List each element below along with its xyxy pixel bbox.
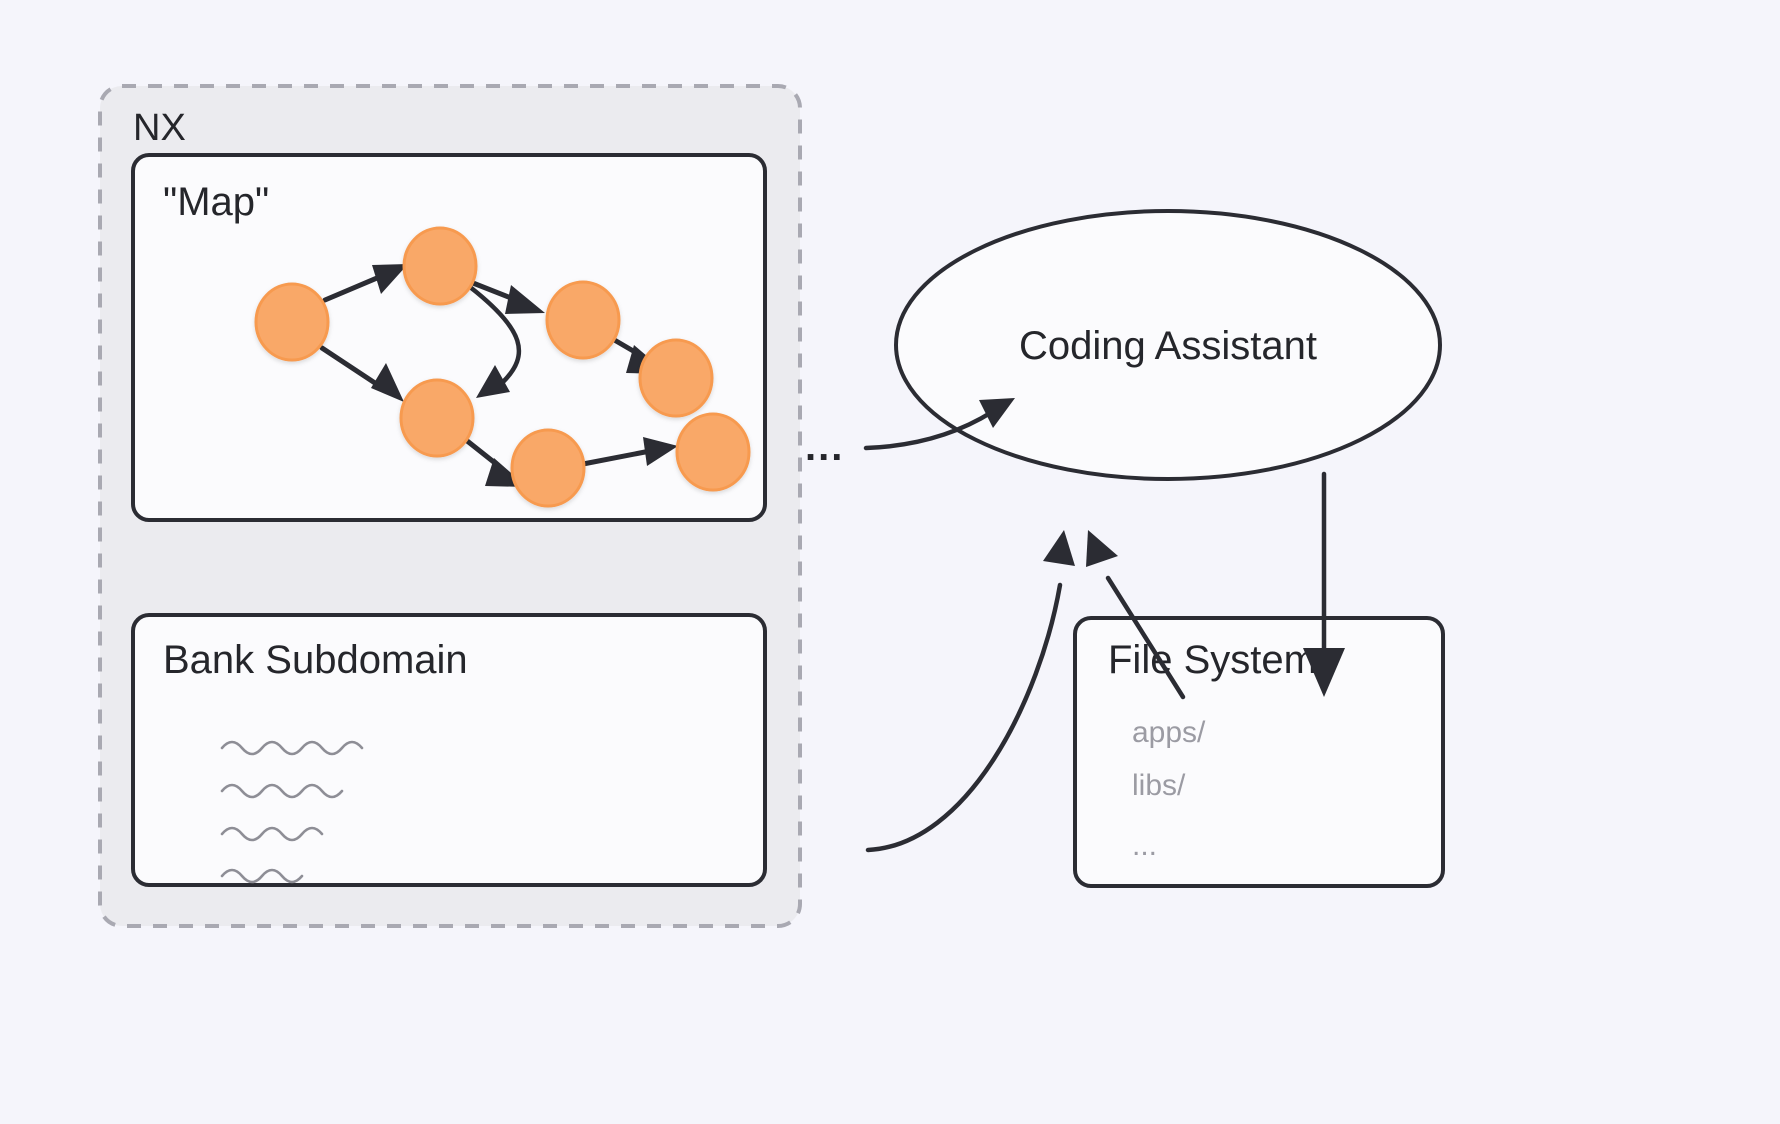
coding-assistant-node[interactable]: Coding Assistant <box>896 211 1440 479</box>
graph-node[interactable] <box>640 340 712 416</box>
file-system-item-apps: apps/ <box>1132 716 1206 749</box>
file-system-item-libs: libs/ <box>1132 769 1186 802</box>
bank-subdomain-title: Bank Subdomain <box>163 638 468 682</box>
coding-assistant-label: Coding Assistant <box>1019 324 1317 368</box>
graph-node[interactable] <box>512 430 584 506</box>
graph-more-ellipsis: ... <box>805 425 844 469</box>
graph-node[interactable] <box>401 380 473 456</box>
arrowhead-icon <box>1043 530 1075 566</box>
file-system-panel[interactable]: File System apps/ libs/ ... <box>1075 618 1443 886</box>
arrowhead-icon <box>1086 530 1118 567</box>
map-panel-title: "Map" <box>163 180 269 224</box>
graph-node[interactable] <box>256 284 328 360</box>
file-system-title: File System <box>1108 638 1317 682</box>
connector-bank-to-assistant <box>868 530 1075 850</box>
diagram-canvas: NX "Map" <box>0 0 1780 1124</box>
graph-node[interactable] <box>404 228 476 304</box>
graph-node[interactable] <box>547 282 619 358</box>
nx-group-label: NX <box>133 107 186 149</box>
map-panel[interactable]: "Map" <box>133 155 765 520</box>
bank-subdomain-panel[interactable]: Bank Subdomain <box>133 615 765 885</box>
graph-node[interactable] <box>677 414 749 490</box>
file-system-item-more: ... <box>1132 829 1157 862</box>
